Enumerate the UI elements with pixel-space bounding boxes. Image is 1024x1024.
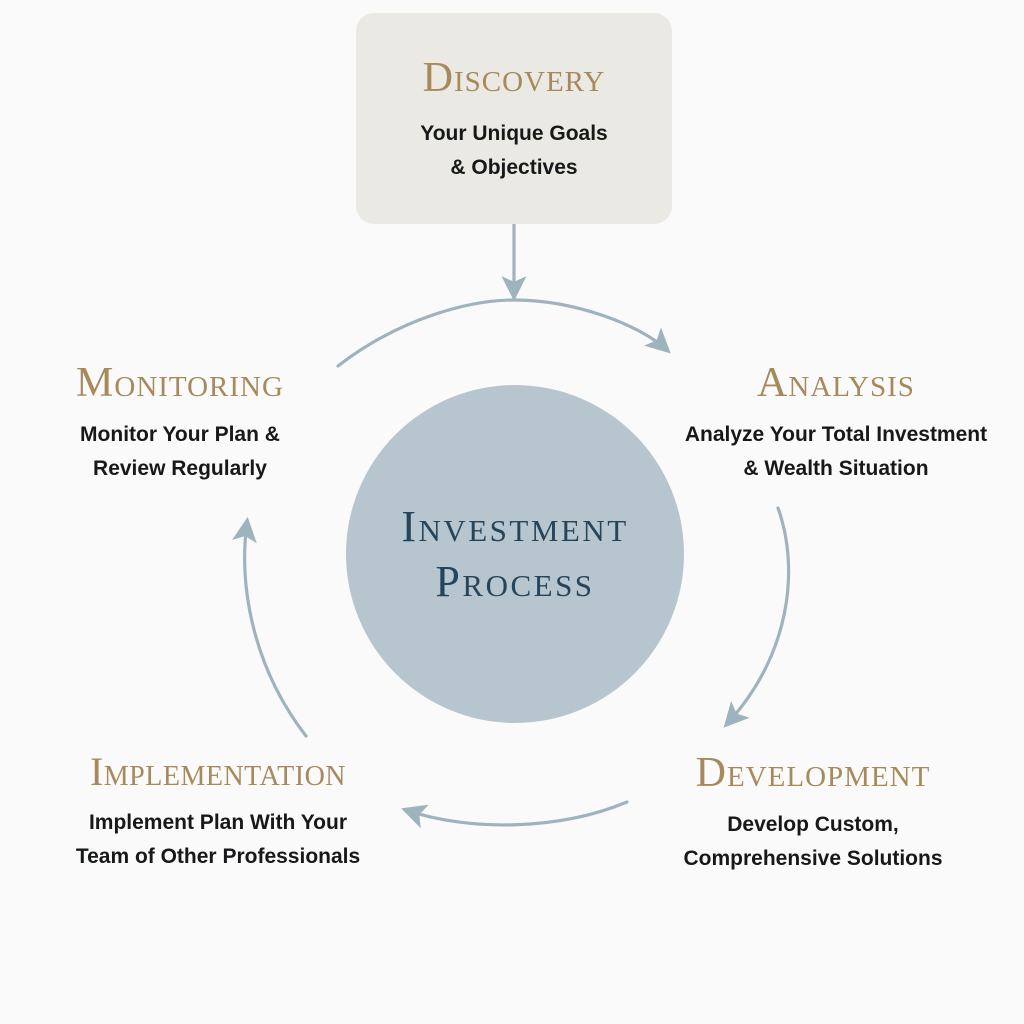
arrow-arc-to-monitoring xyxy=(245,522,306,736)
center-label-line2: Process xyxy=(435,554,594,609)
stage-card-discovery[interactable]: Discovery Your Unique Goals & Objectives xyxy=(356,13,672,224)
stage-title-development: Development xyxy=(696,752,931,794)
arrow-arc-to-development xyxy=(727,508,789,724)
center-circle: Investment Process xyxy=(346,385,684,723)
stage-block-implementation[interactable]: Implementation Implement Plan With Your … xyxy=(8,752,428,873)
stage-body-monitoring: Monitor Your Plan & Review Regularly xyxy=(80,418,280,485)
stage-block-development[interactable]: Development Develop Custom, Comprehensiv… xyxy=(622,752,1004,875)
stage-body-discovery: Your Unique Goals & Objectives xyxy=(420,117,607,185)
arrow-arc-to-analysis xyxy=(338,300,667,366)
arrow-arc-to-implementation xyxy=(406,802,627,825)
center-label-line1: Investment xyxy=(401,499,628,554)
stage-body-implementation: Implement Plan With Your Team of Other P… xyxy=(76,806,360,873)
stage-block-monitoring[interactable]: Monitoring Monitor Your Plan & Review Re… xyxy=(8,362,352,485)
stage-title-discovery: Discovery xyxy=(423,57,606,99)
stage-body-development: Develop Custom, Comprehensive Solutions xyxy=(683,808,942,875)
stage-title-implementation: Implementation xyxy=(90,752,346,792)
stage-block-analysis[interactable]: Analysis Analyze Your Total Investment &… xyxy=(660,362,1012,485)
stage-title-analysis: Analysis xyxy=(757,362,915,404)
stage-title-monitoring: Monitoring xyxy=(76,362,284,404)
stage-body-analysis: Analyze Your Total Investment & Wealth S… xyxy=(685,418,987,485)
investment-process-diagram: Discovery Your Unique Goals & Objectives… xyxy=(0,0,1024,1024)
